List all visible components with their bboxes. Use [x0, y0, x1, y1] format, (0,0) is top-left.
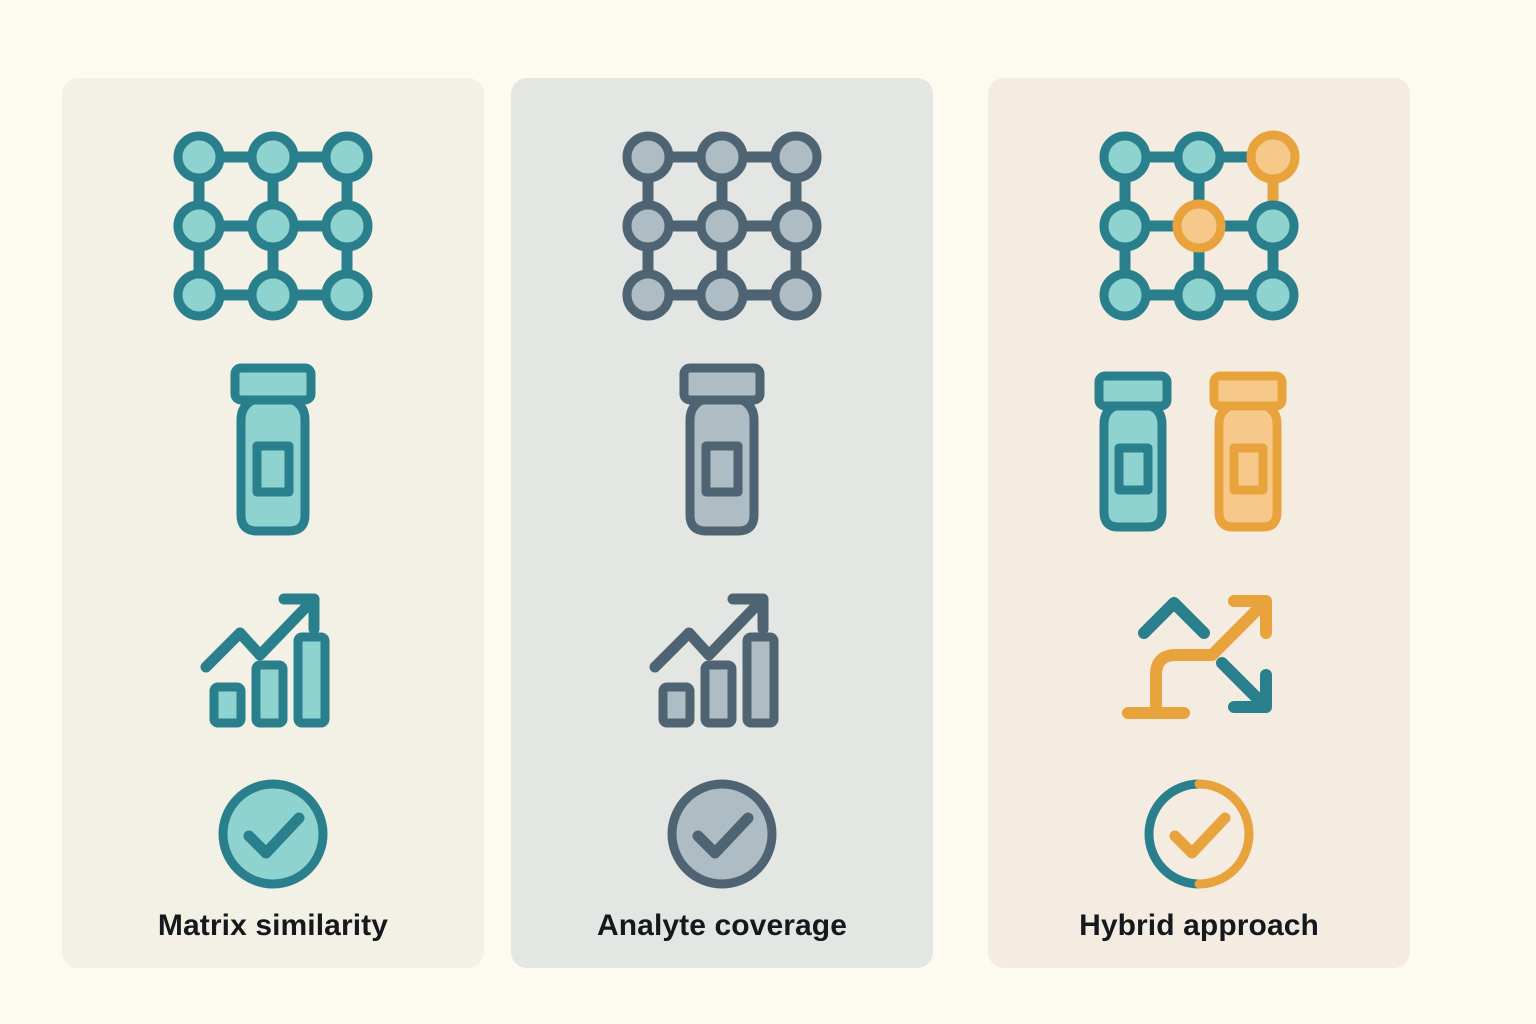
- infographic-board: Matrix similarity: [0, 0, 1536, 1024]
- card-hybrid-approach[interactable]: Hybrid approach: [988, 78, 1410, 968]
- check-circle-icon: [1139, 759, 1259, 909]
- growth-chart-icon: [647, 570, 797, 745]
- vial-pair-icon: [1084, 345, 1314, 560]
- lattice-grid-icon: [622, 118, 822, 333]
- icon-stack: [1084, 118, 1314, 909]
- check-circle-icon: [662, 759, 782, 909]
- icon-stack: [173, 118, 373, 909]
- card-label-hybrid-approach: Hybrid approach: [988, 909, 1410, 943]
- branching-arrow-icon: [1112, 570, 1287, 745]
- vial-icon: [213, 345, 333, 560]
- growth-chart-icon: [198, 570, 348, 745]
- card-label-matrix-similarity: Matrix similarity: [62, 909, 484, 943]
- lattice-grid-icon: [1099, 118, 1299, 333]
- lattice-grid-icon: [173, 118, 373, 333]
- vial-icon: [662, 345, 782, 560]
- vial-orange: [1214, 376, 1282, 527]
- check-circle-icon: [213, 759, 333, 909]
- card-label-analyte-coverage: Analyte coverage: [511, 909, 933, 943]
- card-matrix-similarity[interactable]: Matrix similarity: [62, 78, 484, 968]
- icon-stack: [622, 118, 822, 909]
- card-analyte-coverage[interactable]: Analyte coverage: [511, 78, 933, 968]
- vial-teal: [1099, 376, 1167, 527]
